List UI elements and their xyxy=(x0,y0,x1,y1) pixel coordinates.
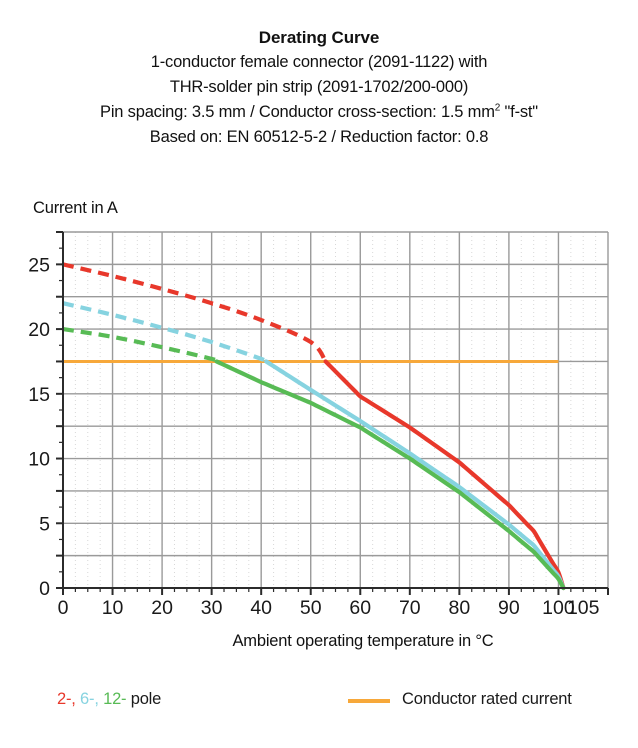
x-tick-label: 70 xyxy=(399,597,421,619)
x-tick-label: 20 xyxy=(151,597,173,619)
x-tick-label: 40 xyxy=(250,597,272,619)
y-tick-label: 15 xyxy=(28,384,50,406)
y-tick-label: 5 xyxy=(39,513,50,535)
legend-label-2-pole: 2-, xyxy=(57,690,76,708)
x-tick-label: 60 xyxy=(349,597,371,619)
x-tick-label: 0 xyxy=(58,597,69,619)
series-line-dashed-12-pole xyxy=(63,329,217,361)
x-tick-marks xyxy=(63,588,608,595)
x-tick-label: 80 xyxy=(449,597,471,619)
legend-item-rated-current: Conductor rated current xyxy=(348,690,572,709)
legend-label-pole-word: pole xyxy=(131,690,161,708)
x-tick-label: 10 xyxy=(102,597,124,619)
x-tick-label: 50 xyxy=(300,597,322,619)
chart-legend: 2-, 6-, 12- pole Conductor rated current xyxy=(0,690,638,726)
y-tick-label: 25 xyxy=(28,254,50,276)
axis-lines xyxy=(63,232,608,588)
x-tick-label: 90 xyxy=(498,597,520,619)
x-tick-label: 30 xyxy=(201,597,223,619)
legend-label-6-pole: 6-, xyxy=(80,690,99,708)
derating-curve-figure: Derating Curve 1-conductor female connec… xyxy=(0,0,638,748)
x-minor-ticks xyxy=(63,232,608,588)
x-tick-label: 105 xyxy=(567,597,600,619)
legend-label-12-pole: 12- xyxy=(103,690,126,708)
legend-item-poles: 2-, 6-, 12- pole xyxy=(57,690,161,709)
y-tick-label: 0 xyxy=(39,578,50,600)
x-tick-labels: 0102030405060708090100105 xyxy=(58,597,600,619)
y-gridlines xyxy=(63,232,608,588)
x-axis-title-wrap: Ambient operating temperature in °C xyxy=(0,632,638,651)
x-axis-title: Ambient operating temperature in °C xyxy=(233,632,494,651)
y-tick-labels: 0510152025 xyxy=(28,254,50,600)
y-tick-marks xyxy=(56,232,63,588)
y-tick-label: 20 xyxy=(28,319,50,341)
legend-swatch-rated-current xyxy=(348,699,390,703)
y-tick-label: 10 xyxy=(28,449,50,471)
series-line-solid-12-pole xyxy=(217,361,564,588)
legend-label-rated-current: Conductor rated current xyxy=(402,690,572,709)
